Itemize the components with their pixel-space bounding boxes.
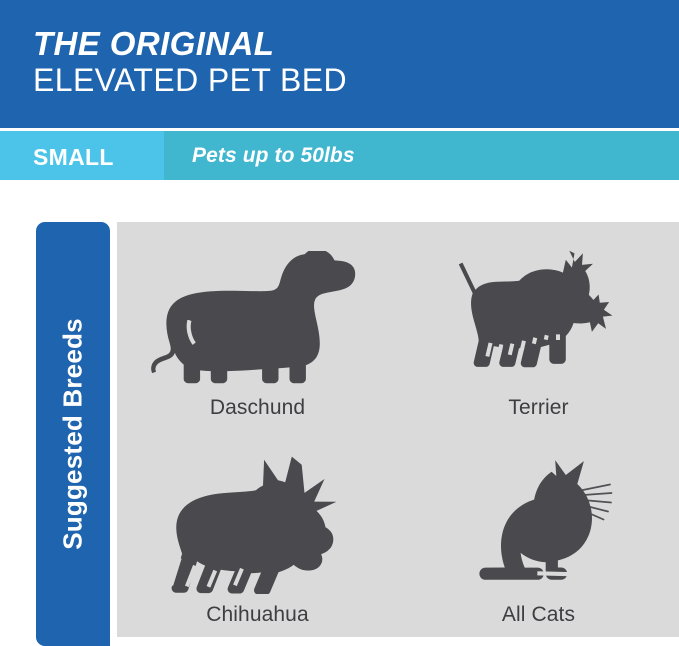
cat-silhouette: [458, 444, 620, 594]
suggested-breeds-tab: Suggested Breeds: [36, 222, 110, 646]
terrier-silhouette: [448, 247, 630, 387]
breed-cell-chihuahua: Chihuahua: [117, 430, 398, 638]
page-title: THE ORIGINAL ELEVATED PET BED: [33, 27, 347, 97]
breed-grid: Daschund Terrier Chihuahua: [117, 222, 679, 637]
header-banner: THE ORIGINAL ELEVATED PET BED: [0, 0, 679, 128]
breed-label: Chihuahua: [206, 603, 309, 627]
breed-label: All Cats: [502, 603, 575, 627]
breed-label: Daschund: [210, 396, 305, 420]
breed-cell-terrier: Terrier: [398, 222, 679, 430]
breed-cell-all-cats: All Cats: [398, 430, 679, 638]
weight-description: Pets up to 50lbs: [192, 144, 355, 168]
pet-bed-size-infographic: THE ORIGINAL ELEVATED PET BED SMALL Pets…: [0, 0, 679, 646]
title-main: ELEVATED PET BED: [33, 64, 347, 98]
size-band: SMALL Pets up to 50lbs: [0, 131, 679, 180]
suggested-breeds-tab-label: Suggested Breeds: [58, 318, 89, 550]
breed-label: Terrier: [508, 396, 568, 420]
title-emphasis: THE ORIGINAL: [33, 27, 347, 61]
chihuahua-silhouette: [155, 454, 361, 594]
size-label: SMALL: [33, 144, 114, 171]
dachshund-silhouette: [147, 251, 369, 387]
breed-cell-daschund: Daschund: [117, 222, 398, 430]
